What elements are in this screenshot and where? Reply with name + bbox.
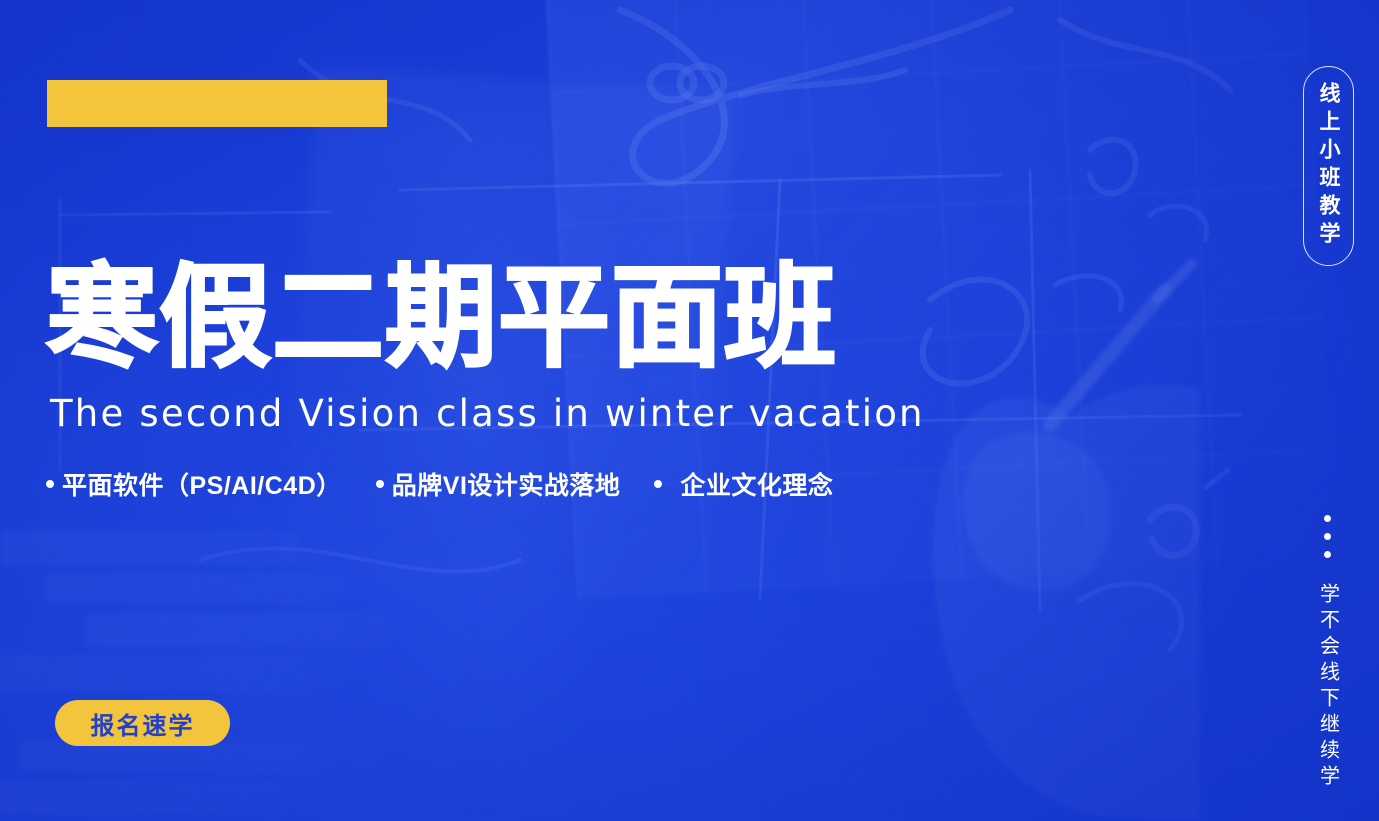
guarantee-slogan-label: 学不会线下继续学 (1318, 583, 1338, 791)
online-class-badge: 线上小班教学 (1303, 66, 1354, 266)
feature-item: 品牌VI设计实战落地 (376, 466, 621, 502)
poster-content: 寒假二期平面班 The second Vision class in winte… (0, 0, 1379, 821)
online-class-badge-label: 线上小班教学 (1318, 82, 1339, 250)
poster-canvas: 寒假二期平面班 The second Vision class in winte… (0, 0, 1379, 821)
feature-item: 企业文化理念 (654, 466, 833, 502)
feature-label: 品牌VI设计实战落地 (392, 466, 621, 502)
enroll-button[interactable]: 报名速学 (55, 700, 230, 746)
feature-label: 企业文化理念 (680, 466, 833, 502)
feature-list: 平面软件（PS/AI/C4D） 品牌VI设计实战落地 企业文化理念 (46, 466, 833, 502)
feature-item: 平面软件（PS/AI/C4D） (46, 466, 342, 502)
bullet-dot-icon (46, 480, 54, 488)
accent-bar (47, 80, 387, 127)
bullet-dot-icon (376, 480, 384, 488)
page-title: 寒假二期平面班 (46, 262, 837, 374)
bullet-dot-icon (654, 480, 662, 488)
enroll-button-label: 报名速学 (91, 706, 195, 741)
guarantee-slogan: 学不会线下继续学 (1303, 515, 1352, 791)
page-subtitle: The second Vision class in winter vacati… (50, 393, 925, 436)
dot-separator-icon (1324, 515, 1331, 569)
feature-label: 平面软件（PS/AI/C4D） (62, 466, 342, 502)
